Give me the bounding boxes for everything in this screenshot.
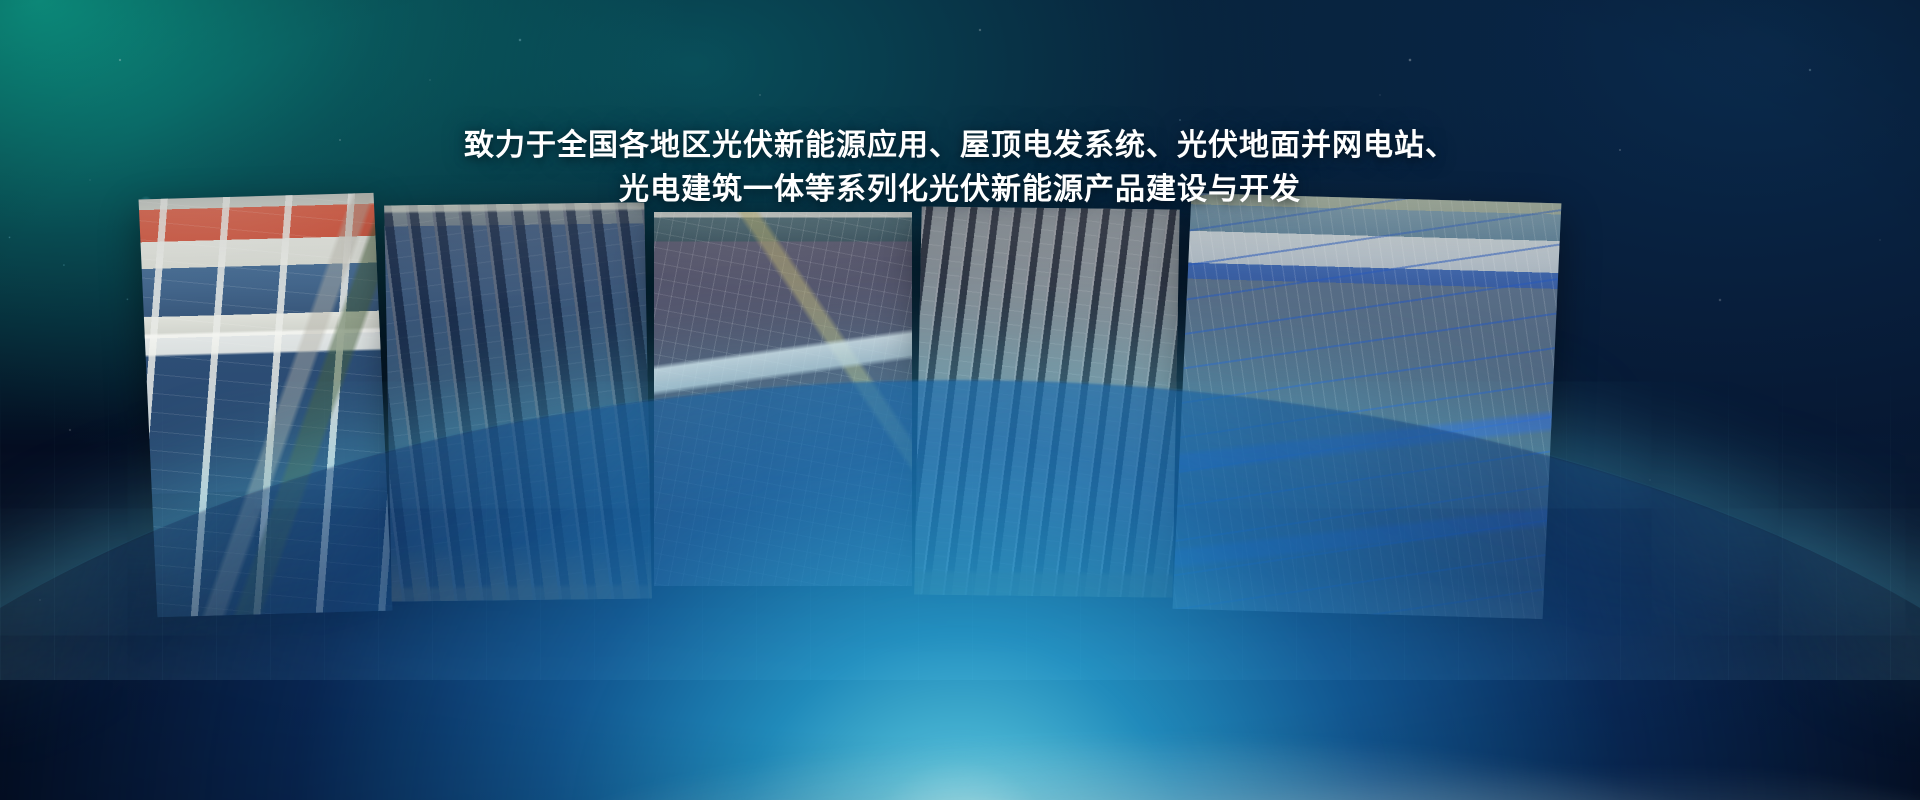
gallery-photo-3[interactable] xyxy=(654,212,912,586)
gallery-photo-2[interactable] xyxy=(384,202,652,601)
headline-line-1: 致力于全国各地区光伏新能源应用、屋顶电发系统、光伏地面并网电站、 xyxy=(464,129,1456,162)
banner-headline: 致力于全国各地区光伏新能源应用、屋顶电发系统、光伏地面并网电站、 光电建筑一体等… xyxy=(0,124,1920,212)
headline-line-2: 光电建筑一体等系列化光伏新能源产品建设与开发 xyxy=(0,168,1920,212)
solar-array-coastal-image xyxy=(384,202,652,601)
photo-gallery xyxy=(0,0,1920,800)
solar-ground-station-image xyxy=(914,206,1179,597)
hero-banner: 致力于全国各地区光伏新能源应用、屋顶电发系统、光伏地面并网电站、 光电建筑一体等… xyxy=(0,0,1920,800)
gallery-photo-1[interactable] xyxy=(139,193,393,617)
gallery-photo-4[interactable] xyxy=(914,206,1179,597)
gallery-photo-5[interactable] xyxy=(1173,193,1562,619)
solar-blue-frame-roof-image xyxy=(1173,193,1562,619)
solar-rooftop-industrial-image xyxy=(654,212,912,586)
solar-rooftop-campus-image xyxy=(139,193,393,617)
